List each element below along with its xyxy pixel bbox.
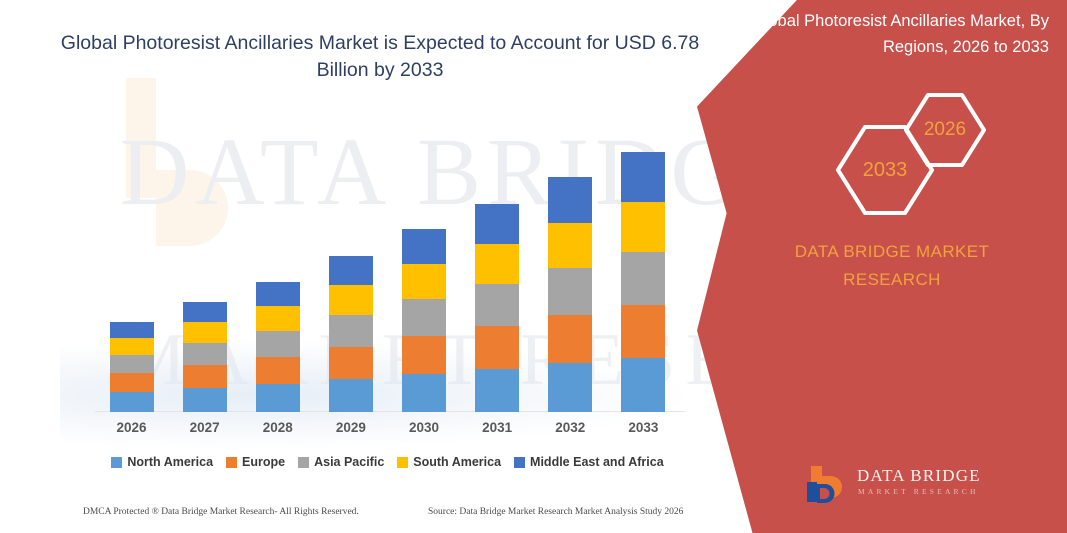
x-axis-label: 2032 (535, 420, 605, 435)
bar-group (183, 302, 227, 412)
bar-segment (329, 285, 373, 315)
legend-swatch (514, 457, 525, 468)
legend-swatch (298, 457, 309, 468)
bar-segment (548, 223, 592, 268)
bar-group (621, 152, 665, 412)
bar-group (548, 177, 592, 412)
brand-wordmark-line1: DATA BRIDGE MARKET (747, 238, 1037, 266)
logo-subtitle: MARKET RESEARCH (858, 487, 979, 496)
legend-label: North America (127, 455, 213, 469)
x-axis-label: 2033 (608, 420, 678, 435)
x-axis-label: 2026 (97, 420, 167, 435)
bar-group (402, 229, 446, 412)
chart-panel: Global Photoresist Ancillaries Market is… (0, 0, 790, 533)
bar-segment (110, 355, 154, 373)
bar-segment (256, 357, 300, 384)
legend-item[interactable]: Europe (226, 455, 285, 469)
bar-segment (183, 388, 227, 412)
x-axis-label: 2030 (389, 420, 459, 435)
x-axis-label: 2029 (316, 420, 386, 435)
legend-label: South America (413, 455, 501, 469)
footer-source-text: Source: Data Bridge Market Research Mark… (428, 507, 683, 517)
x-axis-labels: 20262027202820292030203120322033 (95, 420, 680, 444)
bar-segment (329, 379, 373, 412)
footer: DMCA Protected ® Data Bridge Market Rese… (0, 507, 720, 527)
bar-segment (402, 336, 446, 374)
bar-segment (548, 363, 592, 412)
bar-segment (402, 264, 446, 299)
bar-segment (183, 302, 227, 322)
bar-segment (256, 331, 300, 357)
legend-swatch (226, 457, 237, 468)
bar-segment (548, 315, 592, 363)
bar-segment (621, 252, 665, 305)
bar-segment (402, 299, 446, 336)
company-logo: DATA BRIDGE MARKET RESEARCH (805, 462, 1025, 510)
bar-segment (110, 373, 154, 392)
bar-segment (256, 282, 300, 306)
bar-segment (475, 204, 519, 244)
brand-wordmark: DATA BRIDGE MARKET RESEARCH (747, 238, 1037, 294)
hexagon-far-label: 2033 (863, 159, 908, 182)
bar-segment (110, 392, 154, 412)
x-axis-label: 2031 (462, 420, 532, 435)
bar-group (475, 204, 519, 412)
legend-item[interactable]: Asia Pacific (298, 455, 384, 469)
bar-segment (475, 244, 519, 284)
hexagon-badge-far: 2033 (835, 124, 935, 216)
bar-segment (110, 338, 154, 355)
bar-segment (329, 347, 373, 379)
stacked-bar-plot (95, 120, 680, 412)
bar-segment (329, 315, 373, 347)
bar-segment (256, 306, 300, 331)
bar-group (110, 322, 154, 412)
chart-legend: North AmericaEuropeAsia PacificSouth Ame… (95, 455, 680, 469)
bar-segment (621, 152, 665, 202)
legend-label: Middle East and Africa (530, 455, 664, 469)
bar-segment (402, 374, 446, 412)
bar-segment (110, 322, 154, 338)
legend-item[interactable]: South America (397, 455, 501, 469)
legend-swatch (111, 457, 122, 468)
x-axis-label: 2028 (243, 420, 313, 435)
legend-label: Europe (242, 455, 285, 469)
legend-item[interactable]: Middle East and Africa (514, 455, 664, 469)
hexagon-badges: 2026 2033 (813, 92, 1023, 217)
legend-label: Asia Pacific (314, 455, 384, 469)
bar-segment (475, 369, 519, 412)
bar-segment (548, 177, 592, 223)
bar-segment (475, 284, 519, 326)
infographic-canvas: DATA BRIDGE MARKET RESEARCH Global Photo… (0, 0, 1067, 533)
bar-segment (621, 305, 665, 358)
brand-panel: Global Photoresist Ancillaries Market, B… (697, 0, 1067, 533)
bar-segment (475, 326, 519, 369)
bar-segment (548, 268, 592, 315)
bar-segment (256, 384, 300, 412)
bar-segment (621, 202, 665, 252)
legend-swatch (397, 457, 408, 468)
x-axis-label: 2027 (170, 420, 240, 435)
data-bridge-logo-icon (805, 464, 849, 506)
legend-item[interactable]: North America (111, 455, 213, 469)
bar-segment (183, 322, 227, 343)
logo-wordmark: DATA BRIDGE (857, 466, 981, 486)
bar-segment (621, 358, 665, 412)
footer-dmca-text: DMCA Protected ® Data Bridge Market Rese… (83, 507, 359, 517)
bar-segment (329, 256, 373, 285)
bar-segment (183, 365, 227, 388)
brand-wordmark-line2: RESEARCH (747, 266, 1037, 294)
bar-segment (183, 343, 227, 365)
bar-group (256, 282, 300, 412)
bar-segment (402, 229, 446, 264)
bar-group (329, 256, 373, 412)
chart-title: Global Photoresist Ancillaries Market is… (60, 30, 700, 84)
